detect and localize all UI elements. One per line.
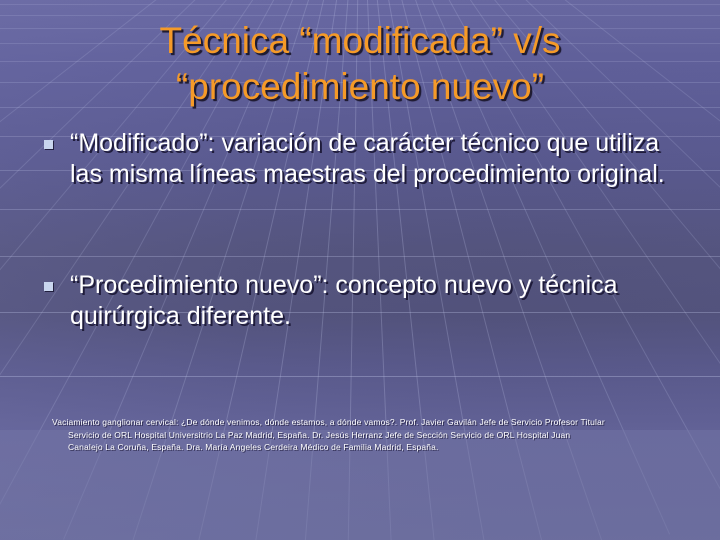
citation-line-2: Servicio de ORL Hospital Universitrio La… <box>68 429 696 442</box>
square-bullet-icon <box>44 282 53 291</box>
presentation-slide: Técnica “modificada” v/s “procedimiento … <box>0 0 720 540</box>
bullet-spacer <box>36 198 694 270</box>
bullet-item-text: “Procedimiento nuevo”: concepto nuevo y … <box>70 270 694 332</box>
bullet-item: “Modificado”: variación de carácter técn… <box>36 128 694 190</box>
citation-block: Vaciamiento ganglionar cervical: ¿De dón… <box>52 416 696 454</box>
bullet-item: “Procedimiento nuevo”: concepto nuevo y … <box>36 270 694 332</box>
square-bullet-icon <box>44 140 53 149</box>
citation-line-3: Canalejo La Coruña, España. Dra. María A… <box>68 441 696 454</box>
slide-title: Técnica “modificada” v/s “procedimiento … <box>40 18 680 110</box>
slide-body: “Modificado”: variación de carácter técn… <box>36 128 694 340</box>
bullet-item-text: “Modificado”: variación de carácter técn… <box>70 128 694 190</box>
citation-line-1: Vaciamiento ganglionar cervical: ¿De dón… <box>52 416 696 429</box>
